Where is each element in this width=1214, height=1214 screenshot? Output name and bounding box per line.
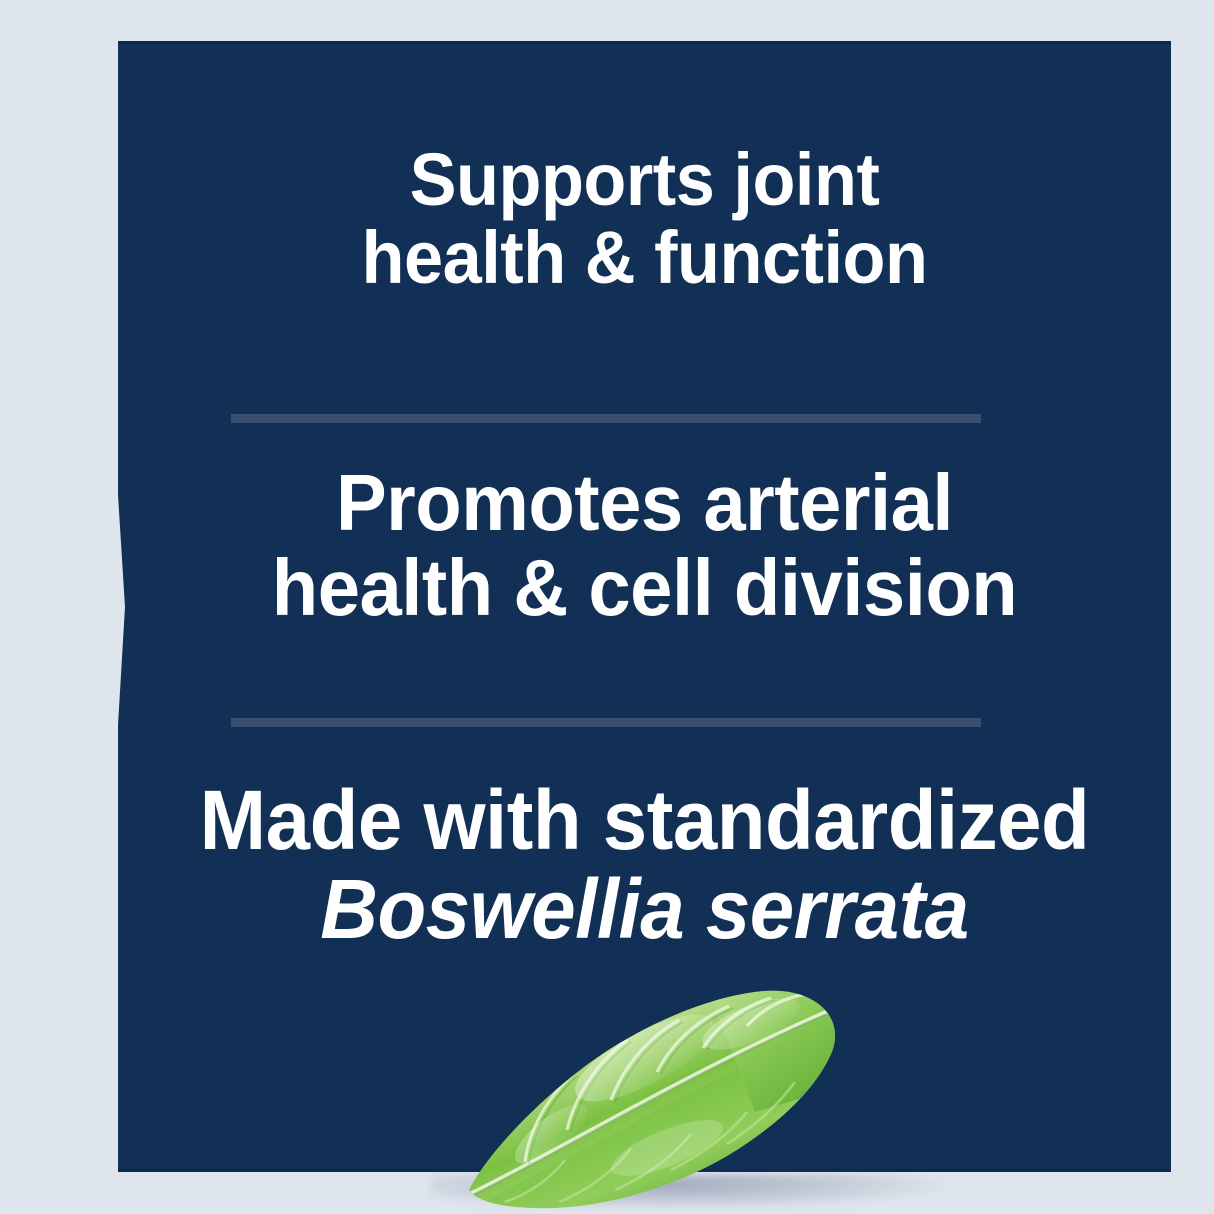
feature-1-line-2: health & function xyxy=(144,219,1144,297)
feature-2-line-1: Promotes arterial xyxy=(144,461,1144,546)
promo-graphic: Supports joint health & function Promote… xyxy=(0,0,1214,1214)
feature-supports-joint-health: Supports joint health & function xyxy=(144,141,1144,298)
feature-standardized-boswellia: Made with standardized Boswellia serrata xyxy=(144,776,1144,954)
feature-promotes-arterial-health: Promotes arterial health & cell division xyxy=(144,461,1144,631)
feature-3-line-1: Made with standardized xyxy=(144,776,1144,865)
feature-2-line-2: health & cell division xyxy=(144,546,1144,631)
feature-divider-1 xyxy=(231,414,981,423)
feature-divider-2 xyxy=(231,718,981,727)
feature-3-species-name: Boswellia serrata xyxy=(144,865,1144,954)
feature-1-line-1: Supports joint xyxy=(144,141,1144,219)
chevron-right-icon xyxy=(0,455,125,760)
leaf-image xyxy=(455,962,875,1212)
